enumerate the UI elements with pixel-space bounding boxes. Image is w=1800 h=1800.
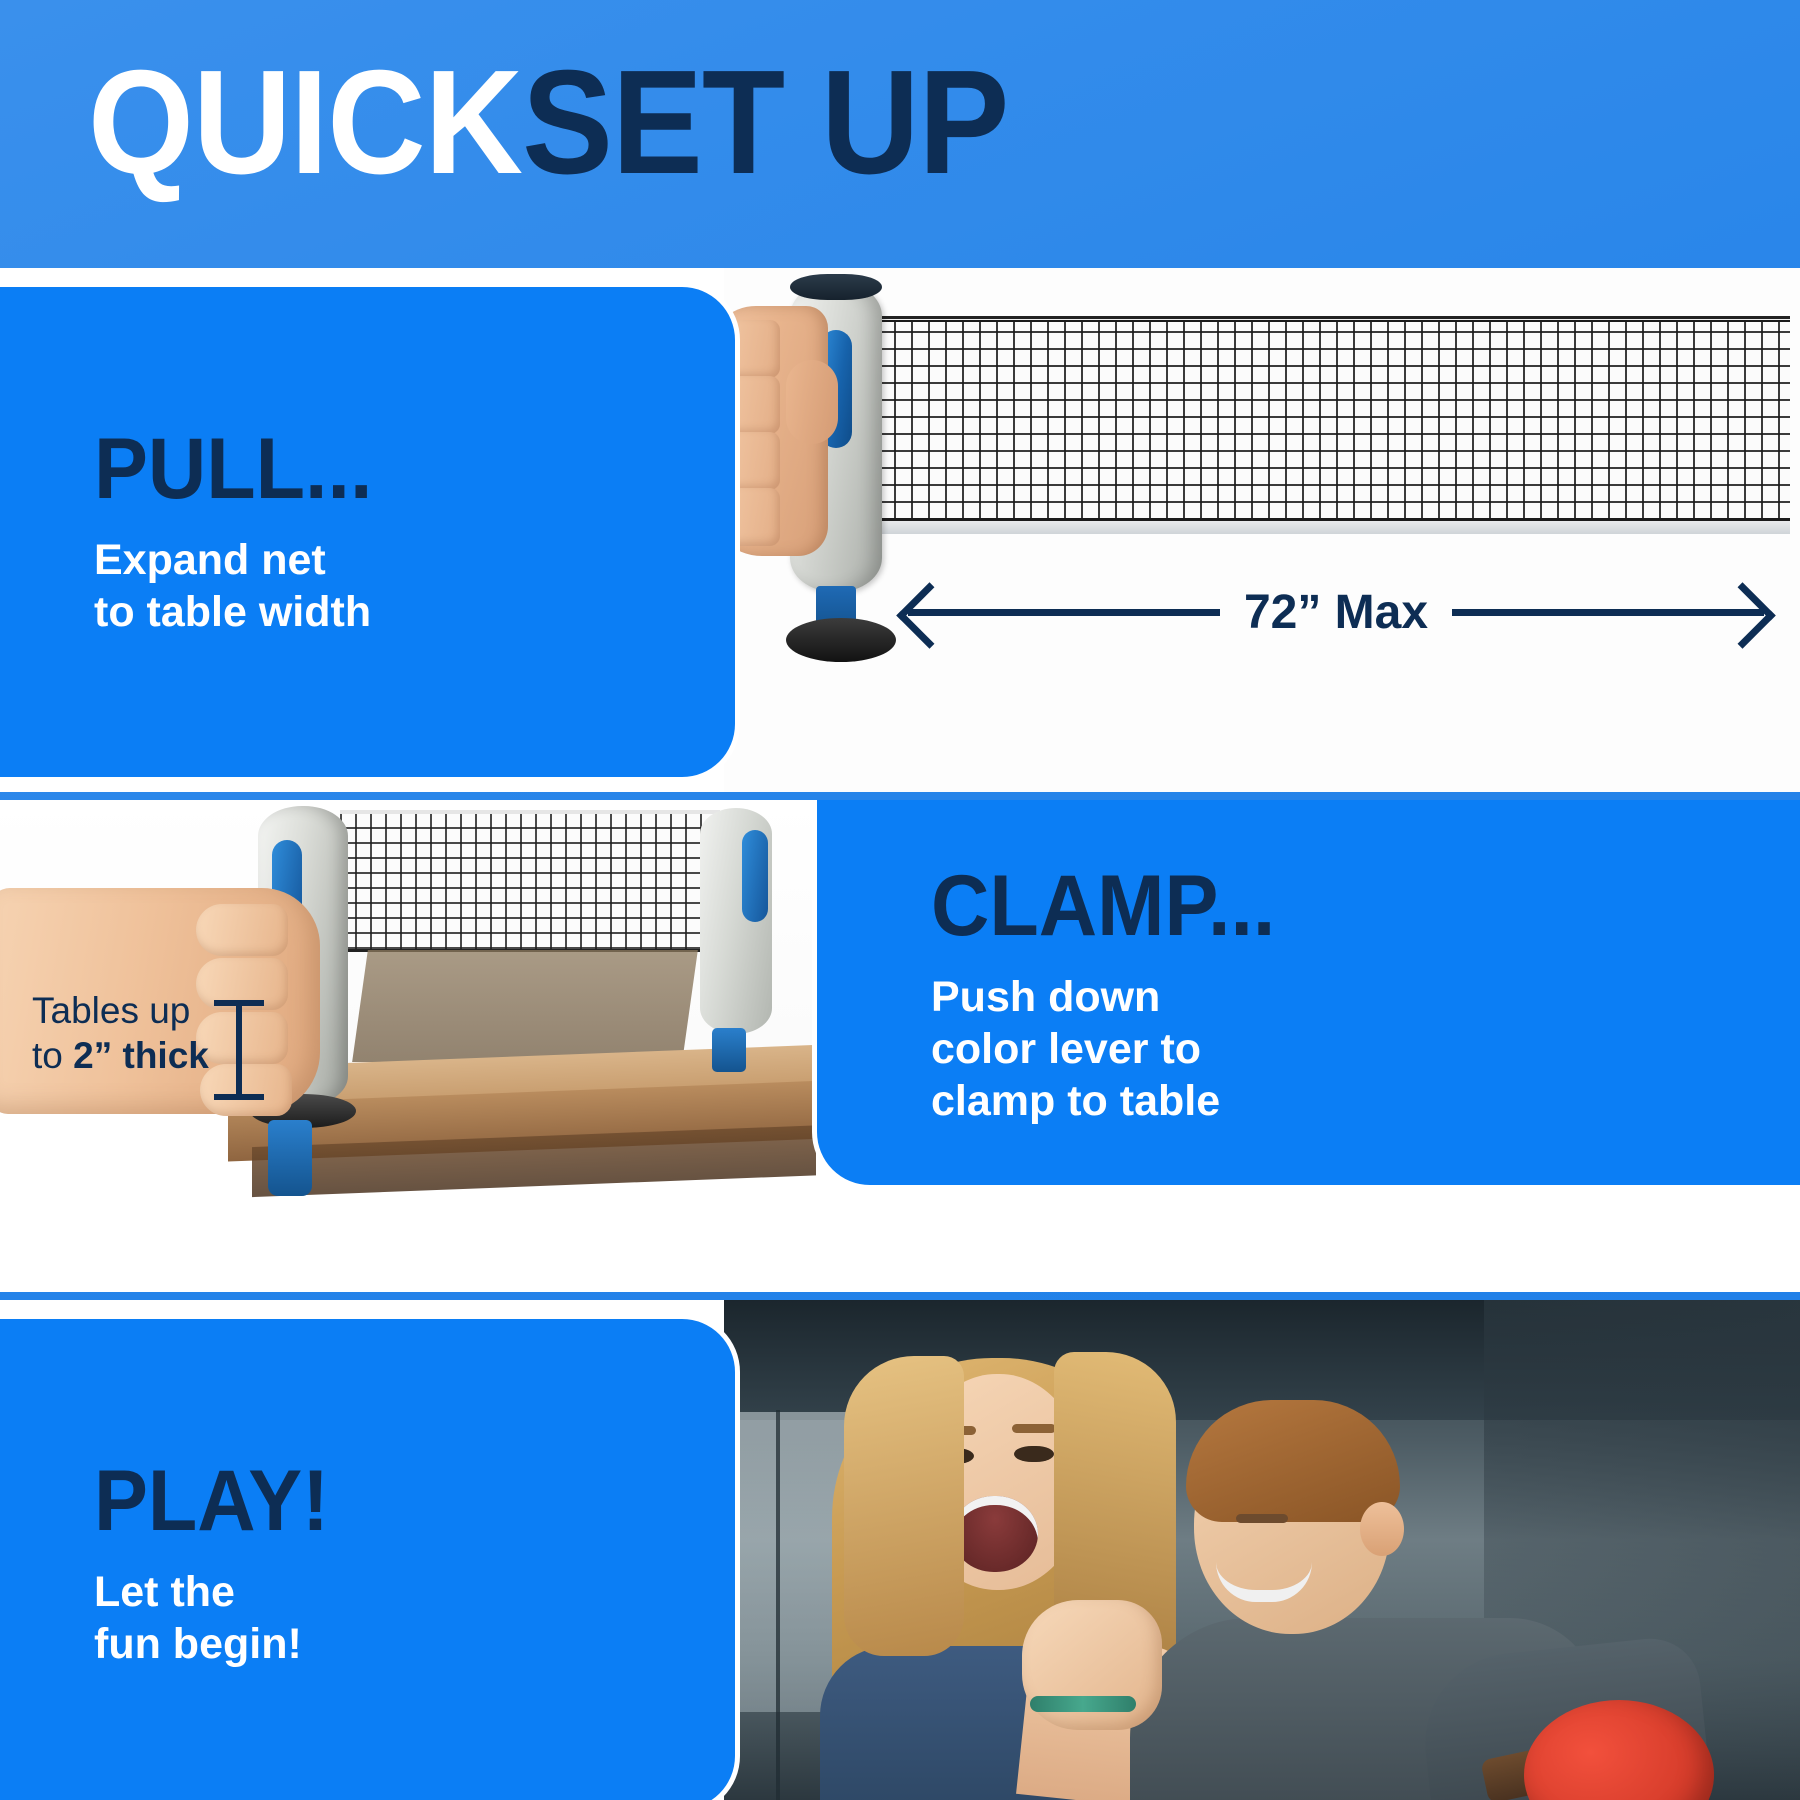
net-mesh [860, 320, 1790, 520]
clamp-heading: CLAMP... [931, 863, 1748, 949]
clamp-stem [268, 1120, 312, 1196]
thickness-line1: Tables up [32, 990, 190, 1031]
clamp-base-cap [786, 618, 896, 662]
step-panel-clamp: CLAMP... Push down color lever to clamp … [0, 800, 1800, 1292]
step-panel-play: PLAY! Let the fun begin! [0, 1300, 1800, 1800]
page-title: QUICKSET UP [88, 48, 1008, 198]
pull-body: Expand net to table width [94, 534, 735, 638]
woman-eye [1014, 1446, 1054, 1462]
reel-cap [790, 274, 882, 300]
woman-mouth-open [952, 1496, 1038, 1572]
play-card: PLAY! Let the fun begin! [0, 1314, 740, 1800]
play-photo [724, 1300, 1800, 1800]
woman-hair-left [844, 1356, 964, 1656]
arrow-left-icon [908, 609, 1220, 616]
play-body: Let the fun begin! [94, 1566, 735, 1670]
man-eye [1236, 1514, 1288, 1523]
thickness-line2-prefix: to [32, 1035, 73, 1076]
blue-lever-far [742, 830, 768, 922]
width-dimension: 72” Max [908, 580, 1764, 644]
pull-heading: PULL... [94, 426, 697, 512]
clamp-body: Push down color lever to clamp to table [931, 971, 1800, 1127]
header: QUICKSET UP [0, 0, 1800, 268]
net-shadow [352, 950, 698, 1062]
pull-card: PULL... Expand net to table width [0, 282, 740, 782]
infographic-canvas: QUICKSET UP 72” Max [0, 0, 1800, 1800]
man-hair [1186, 1400, 1400, 1522]
man-ear [1360, 1502, 1404, 1556]
title-word-quick: QUICK [88, 40, 522, 205]
bracelet [1030, 1696, 1136, 1712]
title-word-setup: SET UP [522, 40, 1008, 205]
clamp-stem-far [712, 1028, 746, 1072]
finger [200, 1064, 292, 1116]
vertical-dimension-icon [236, 1000, 242, 1100]
pull-photo: 72” Max [724, 268, 1800, 792]
thickness-line2-bold: 2” thick [73, 1035, 209, 1076]
net-mesh [340, 810, 720, 952]
net-bottom-band [860, 518, 1790, 534]
step-panel-pull: 72” Max PULL... Expand net to table widt… [0, 268, 1800, 792]
window-mullion [776, 1410, 780, 1800]
finger [196, 904, 288, 956]
clamp-card: CLAMP... Push down color lever to clamp … [812, 800, 1800, 1190]
finger [196, 1012, 288, 1064]
thickness-label: Tables upto 2” thick [32, 988, 209, 1078]
thumb [786, 360, 838, 444]
play-heading: PLAY! [94, 1458, 697, 1544]
arrow-right-icon [1452, 609, 1764, 616]
dimension-label: 72” Max [1244, 585, 1428, 640]
woman-brow [1012, 1424, 1056, 1433]
